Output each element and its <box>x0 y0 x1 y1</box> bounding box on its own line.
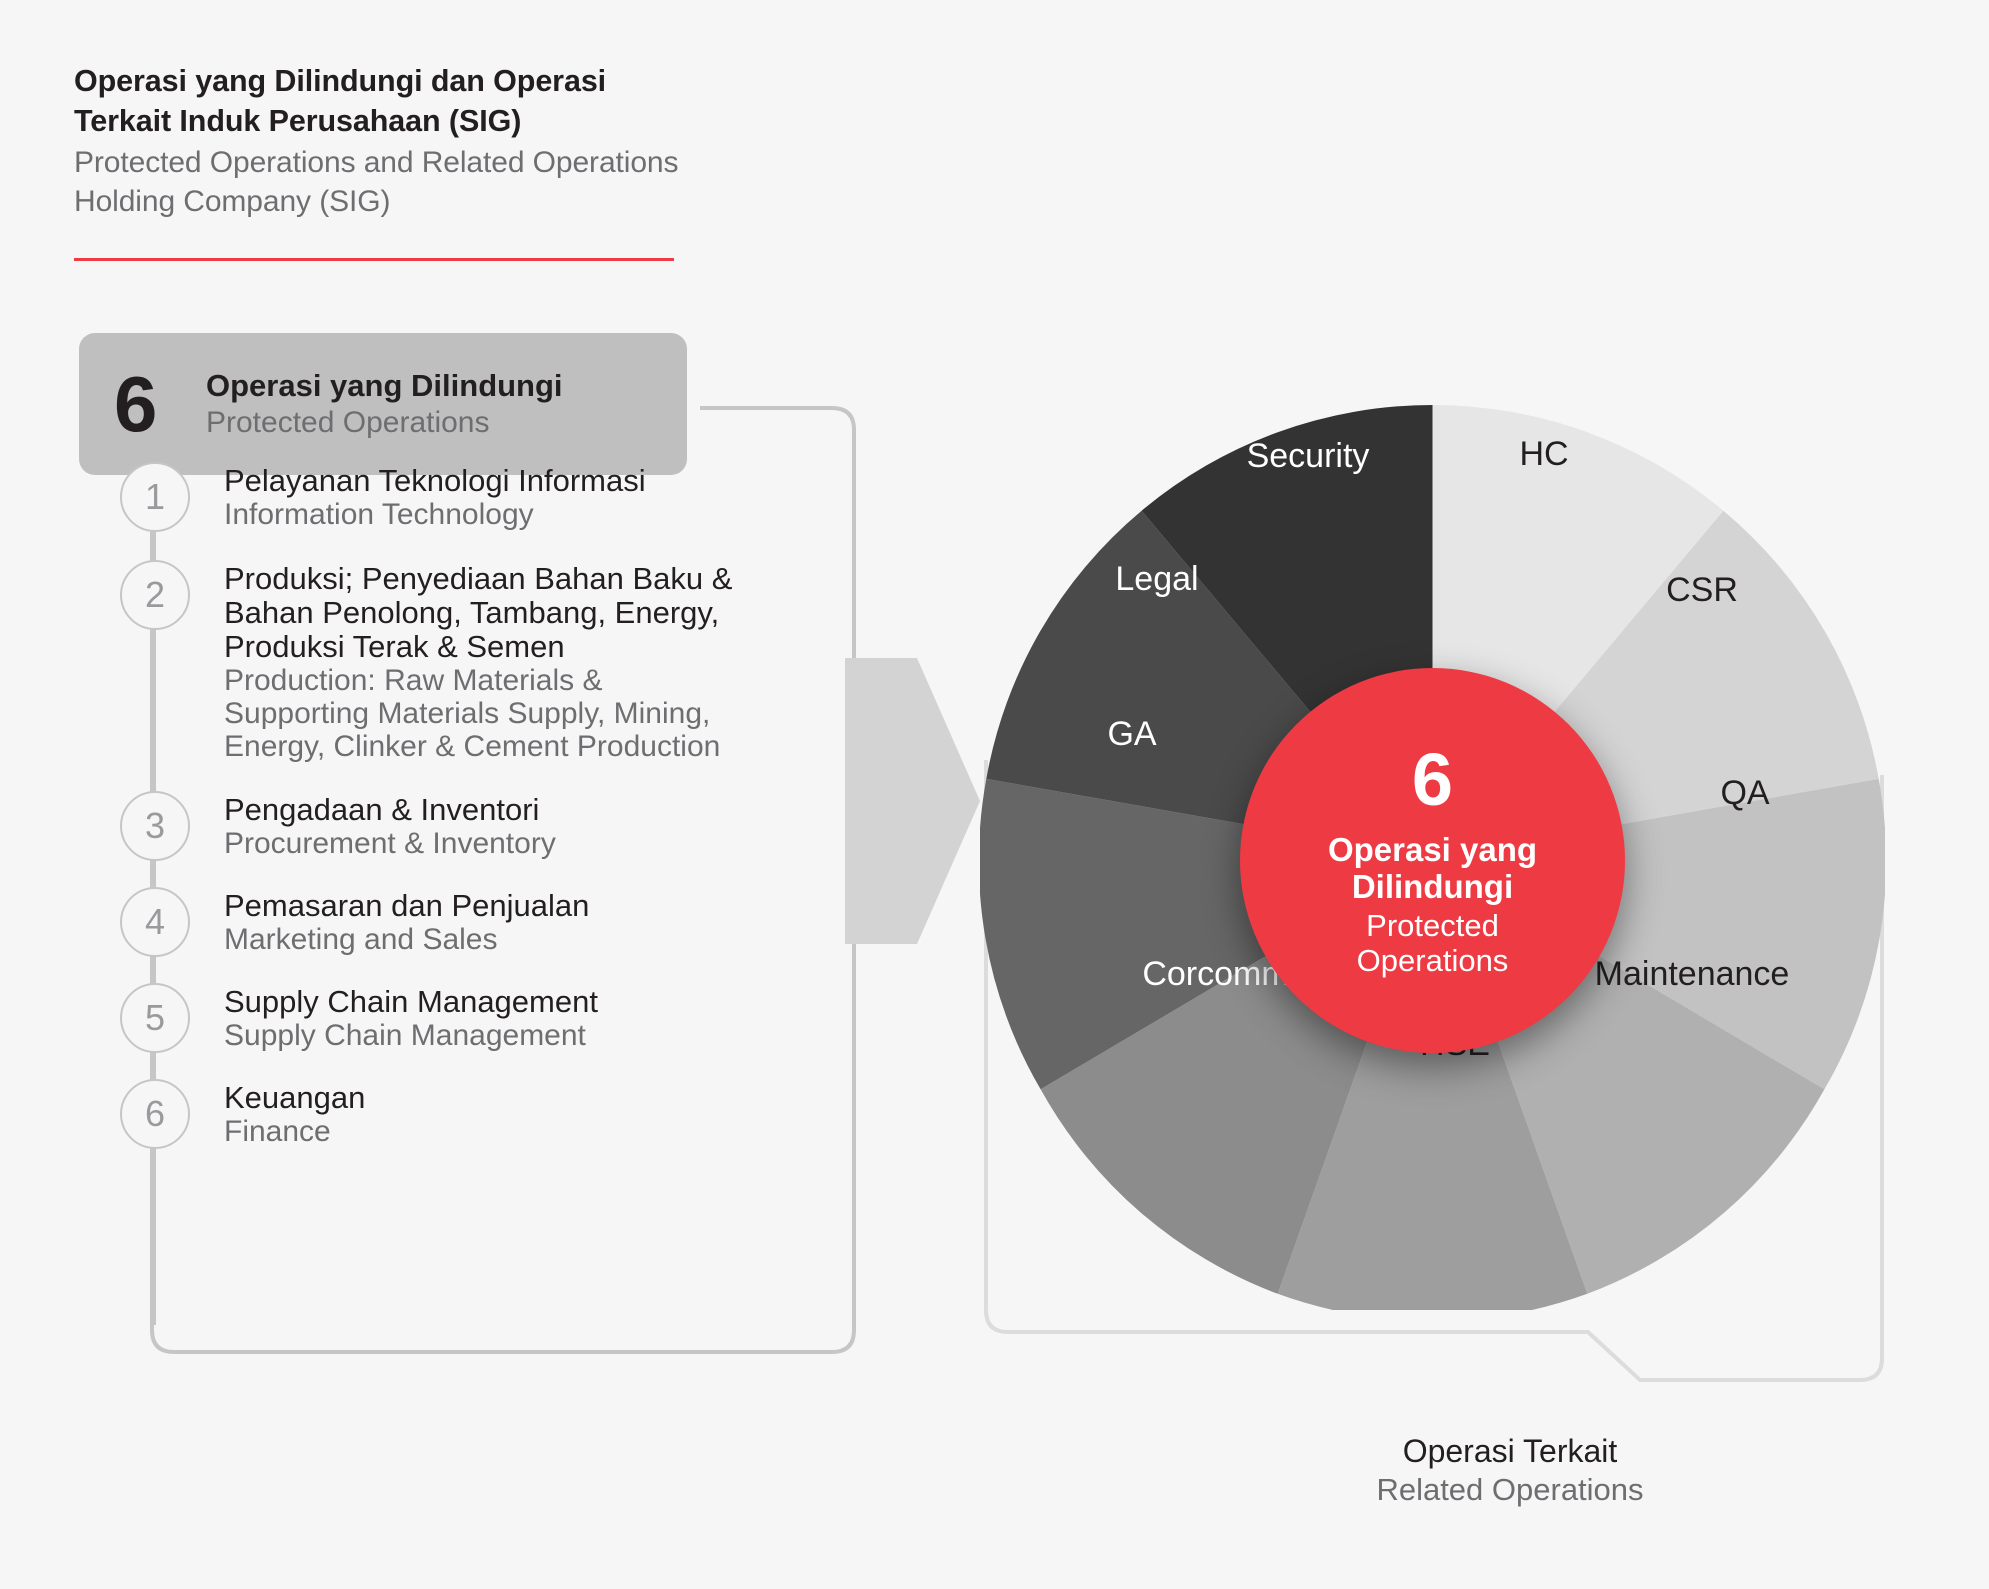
center-label-en: Protected Operations <box>1357 908 1509 979</box>
list-item[interactable]: 5 Supply Chain Management Supply Chain M… <box>104 983 864 1053</box>
list-item-label-en: Production: Raw Materials & Supporting M… <box>224 664 732 763</box>
list-item-label-id: Keuangan <box>224 1081 365 1115</box>
list-item-label-id: Supply Chain Management <box>224 985 598 1019</box>
list-item-label-en: Marketing and Sales <box>224 923 589 956</box>
list-item-text: Pemasaran dan Penjualan Marketing and Sa… <box>224 887 589 956</box>
list-item[interactable]: 2 Produksi; Penyediaan Bahan Baku & Baha… <box>104 560 864 763</box>
center-label-id: Operasi yang Dilindungi <box>1328 831 1537 906</box>
list-item-label-id: Pelayanan Teknologi Informasi <box>224 464 646 498</box>
related-operations-caption: Operasi Terkait Related Operations <box>1190 1432 1830 1509</box>
header-pill-text: Operasi yang Dilindungi Protected Operat… <box>206 367 563 441</box>
list-item[interactable]: 3 Pengadaan & Inventori Procurement & In… <box>104 791 864 861</box>
list-item-label-id: Pengadaan & Inventori <box>224 793 556 827</box>
header-pill-count: 6 <box>114 365 200 443</box>
infographic-page: Operasi yang Dilindungi dan Operasi Terk… <box>0 0 1989 1589</box>
list-item-label-en: Finance <box>224 1115 365 1148</box>
page-title-id: Operasi yang Dilindungi dan Operasi Terk… <box>74 62 694 141</box>
list-item-label-en: Procurement & Inventory <box>224 827 556 860</box>
list-item-text: Pelayanan Teknologi Informasi Informatio… <box>224 462 646 531</box>
list-item-number: 2 <box>120 560 190 630</box>
list-item-label-id: Produksi; Penyediaan Bahan Baku & Bahan … <box>224 562 732 664</box>
list-item[interactable]: 1 Pelayanan Teknologi Informasi Informat… <box>104 462 864 532</box>
page-title-en: Protected Operations and Related Operati… <box>74 143 694 221</box>
list-item[interactable]: 4 Pemasaran dan Penjualan Marketing and … <box>104 887 864 957</box>
flow-arrow-icon <box>845 640 980 962</box>
caption-label-id: Operasi Terkait <box>1190 1432 1830 1471</box>
donut-label-csr: CSR <box>1666 571 1738 609</box>
caption-label-en: Related Operations <box>1190 1471 1830 1509</box>
protected-operations-list: 1 Pelayanan Teknologi Informasi Informat… <box>104 470 864 1149</box>
donut-label-security: Security <box>1247 437 1370 475</box>
list-item-number: 6 <box>120 1079 190 1149</box>
title-underline-rule <box>74 258 674 261</box>
donut-label-maintenance: Maintenance <box>1595 955 1790 993</box>
list-item-number: 1 <box>120 462 190 532</box>
list-item-number: 4 <box>120 887 190 957</box>
protected-operations-header-pill: 6 Operasi yang Dilindungi Protected Oper… <box>79 333 687 475</box>
donut-label-qa: QA <box>1720 774 1769 812</box>
header-pill-label-id: Operasi yang Dilindungi <box>206 367 563 405</box>
center-count: 6 <box>1412 743 1453 817</box>
list-item-label-en: Supply Chain Management <box>224 1019 598 1052</box>
list-item-text: Pengadaan & Inventori Procurement & Inve… <box>224 791 556 860</box>
list-item-number: 5 <box>120 983 190 1053</box>
donut-label-hc: HC <box>1519 435 1568 473</box>
donut-center-badge: 6 Operasi yang Dilindungi Protected Oper… <box>1240 668 1625 1053</box>
page-title: Operasi yang Dilindungi dan Operasi Terk… <box>74 62 694 221</box>
list-item-number: 3 <box>120 791 190 861</box>
donut-label-legal: Legal <box>1115 560 1198 598</box>
list-item-label-en: Information Technology <box>224 498 646 531</box>
list-item-text: Produksi; Penyediaan Bahan Baku & Bahan … <box>224 560 732 763</box>
list-item-text: Supply Chain Management Supply Chain Man… <box>224 983 598 1052</box>
list-item-label-id: Pemasaran dan Penjualan <box>224 889 589 923</box>
list-item[interactable]: 6 Keuangan Finance <box>104 1079 864 1149</box>
donut-label-ga: GA <box>1107 715 1156 753</box>
list-item-text: Keuangan Finance <box>224 1079 365 1148</box>
header-pill-label-en: Protected Operations <box>206 405 563 442</box>
